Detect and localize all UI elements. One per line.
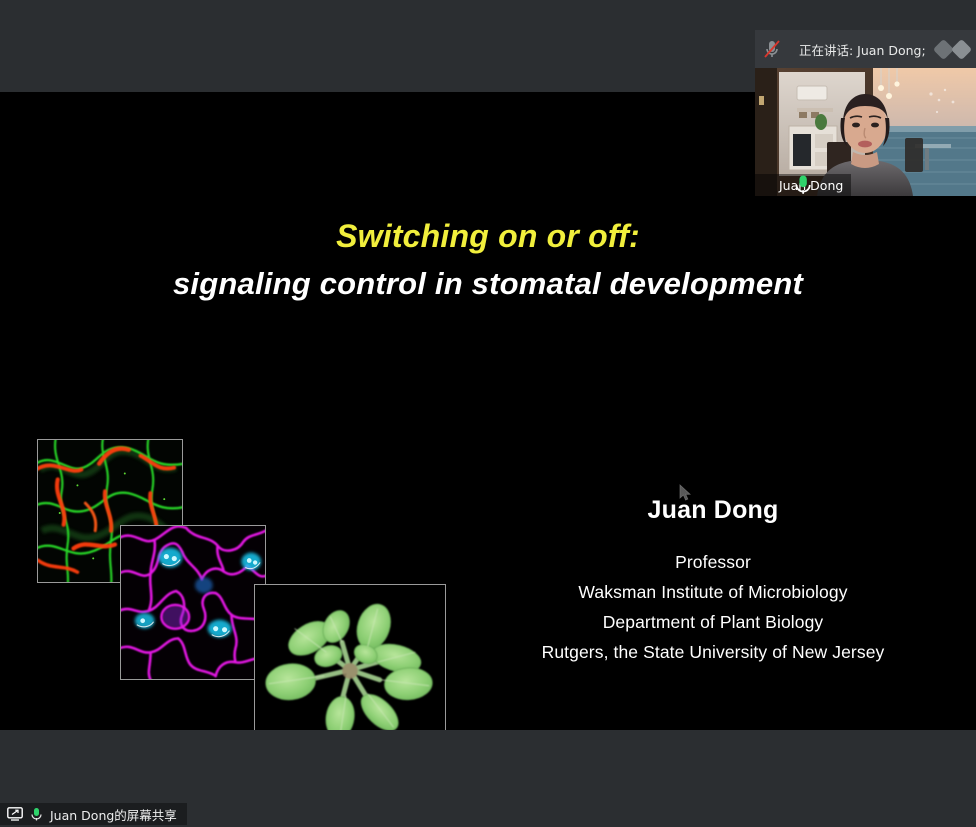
confocal-magenta-stomata-image — [120, 525, 266, 680]
affiliation-line-1: Professor — [513, 552, 913, 573]
microphone-active-icon — [30, 807, 43, 822]
affiliation-line-2: Waksman Institute of Microbiology — [513, 582, 913, 603]
screen-share-icon — [7, 807, 23, 821]
slide-title-line1: Switching on or off: — [0, 220, 976, 252]
video-feed[interactable]: Juan Dong — [755, 68, 976, 196]
speaking-status-label: 正在讲话: Juan Dong; — [799, 40, 926, 59]
presenter-affiliation: Professor Waksman Institute of Microbiol… — [513, 552, 913, 663]
slide-title: Switching on or off: signaling control i… — [0, 220, 976, 299]
arabidopsis-rosette-image — [254, 584, 446, 730]
collapse-chevrons-icon[interactable] — [934, 37, 974, 61]
screen-share-status-bar[interactable]: Juan Dong的屏幕共享 — [0, 803, 187, 825]
participant-name-chip: Juan Dong — [755, 174, 851, 196]
presenter-info: Juan Dong Professor Waksman Institute of… — [513, 496, 913, 663]
presenter-name: Juan Dong — [513, 496, 913, 525]
confocal-magenta-svg — [121, 526, 265, 679]
zoom-meeting-window: Switching on or off: signaling control i… — [0, 0, 976, 825]
screen-share-status-text: Juan Dong的屏幕共享 — [50, 805, 177, 824]
affiliation-line-4: Rutgers, the State University of New Jer… — [513, 642, 913, 663]
participant-video-panel[interactable]: 正在讲话: Juan Dong; — [755, 30, 976, 196]
affiliation-line-3: Department of Plant Biology — [513, 612, 913, 633]
microphone-active-icon — [761, 178, 774, 193]
video-panel-header[interactable]: 正在讲话: Juan Dong; — [755, 30, 976, 68]
slide-title-line2: signaling control in stomatal developmen… — [0, 268, 976, 299]
arabidopsis-rosette-svg — [255, 585, 445, 730]
microphone-muted-icon[interactable] — [761, 38, 783, 60]
